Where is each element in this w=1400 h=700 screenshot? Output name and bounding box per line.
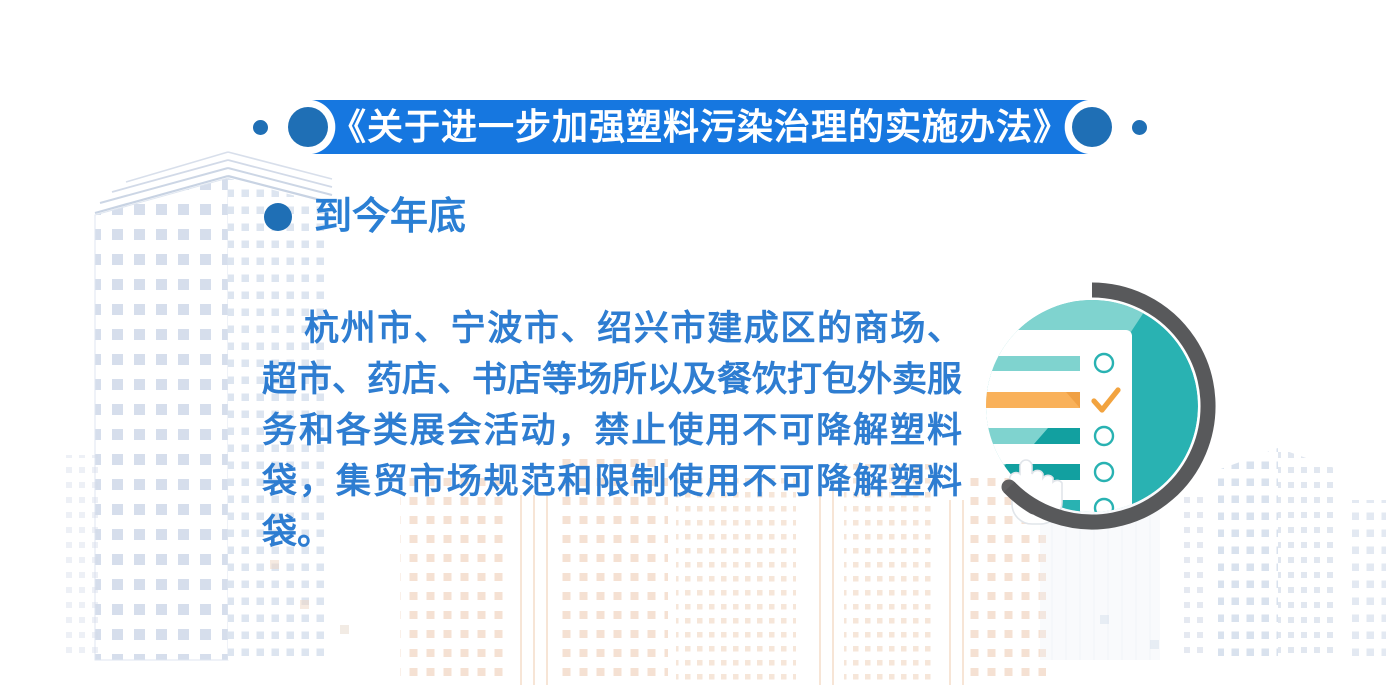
- title-banner-row: 《关于进一步加强塑料污染治理的实施办法》: [0, 96, 1400, 158]
- checklist-illustration: [962, 278, 1222, 538]
- cityscape-accents: [270, 560, 1159, 649]
- decor-dot-left-outer: [253, 120, 268, 135]
- body-paragraph: 杭州市、宁波市、绍兴市建成区的商场、超市、药店、书店等场所以及餐饮打包外卖服务和…: [262, 303, 962, 558]
- decor-dot-right-outer: [1132, 120, 1147, 135]
- bullet-icon: [264, 203, 292, 231]
- section-heading-label: 到今年底: [314, 198, 466, 236]
- title-text: 《关于进一步加强塑料污染治理的实施办法》: [330, 109, 1070, 145]
- title-banner: 《关于进一步加强塑料污染治理的实施办法》: [308, 100, 1092, 154]
- building-left-low: [60, 455, 102, 660]
- section-heading: 到今年底: [264, 198, 466, 236]
- poster-canvas: 《关于进一步加强塑料污染治理的实施办法》 到今年底 杭州市、宁波市、绍兴市建成区…: [0, 0, 1400, 700]
